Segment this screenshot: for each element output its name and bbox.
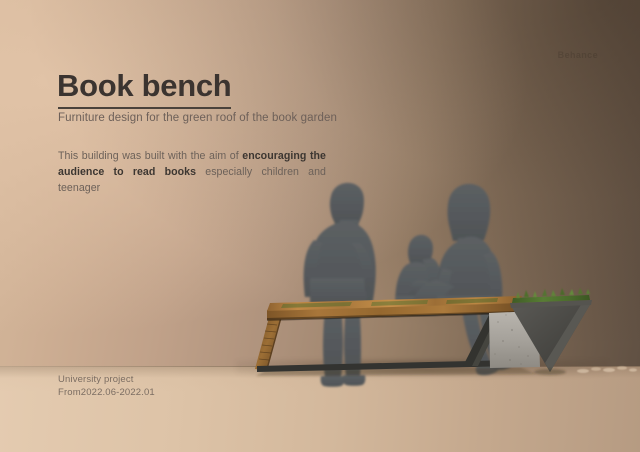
watermark-label: Behance bbox=[558, 50, 598, 60]
credits-line-dates: From2022.06-2022.01 bbox=[58, 386, 155, 399]
poster-canvas: Book bench Furniture design for the gree… bbox=[0, 0, 640, 452]
credits-line-university: University project bbox=[58, 373, 155, 386]
credits-block: University project From2022.06-2022.01 bbox=[58, 373, 155, 400]
body-paragraph: This building was built with the aim of … bbox=[58, 148, 326, 196]
ground-contact-shadow bbox=[236, 360, 608, 376]
page-title: Book bench bbox=[57, 70, 231, 103]
title-underline bbox=[58, 107, 231, 109]
page-subtitle: Furniture design for the green roof of t… bbox=[58, 112, 337, 124]
